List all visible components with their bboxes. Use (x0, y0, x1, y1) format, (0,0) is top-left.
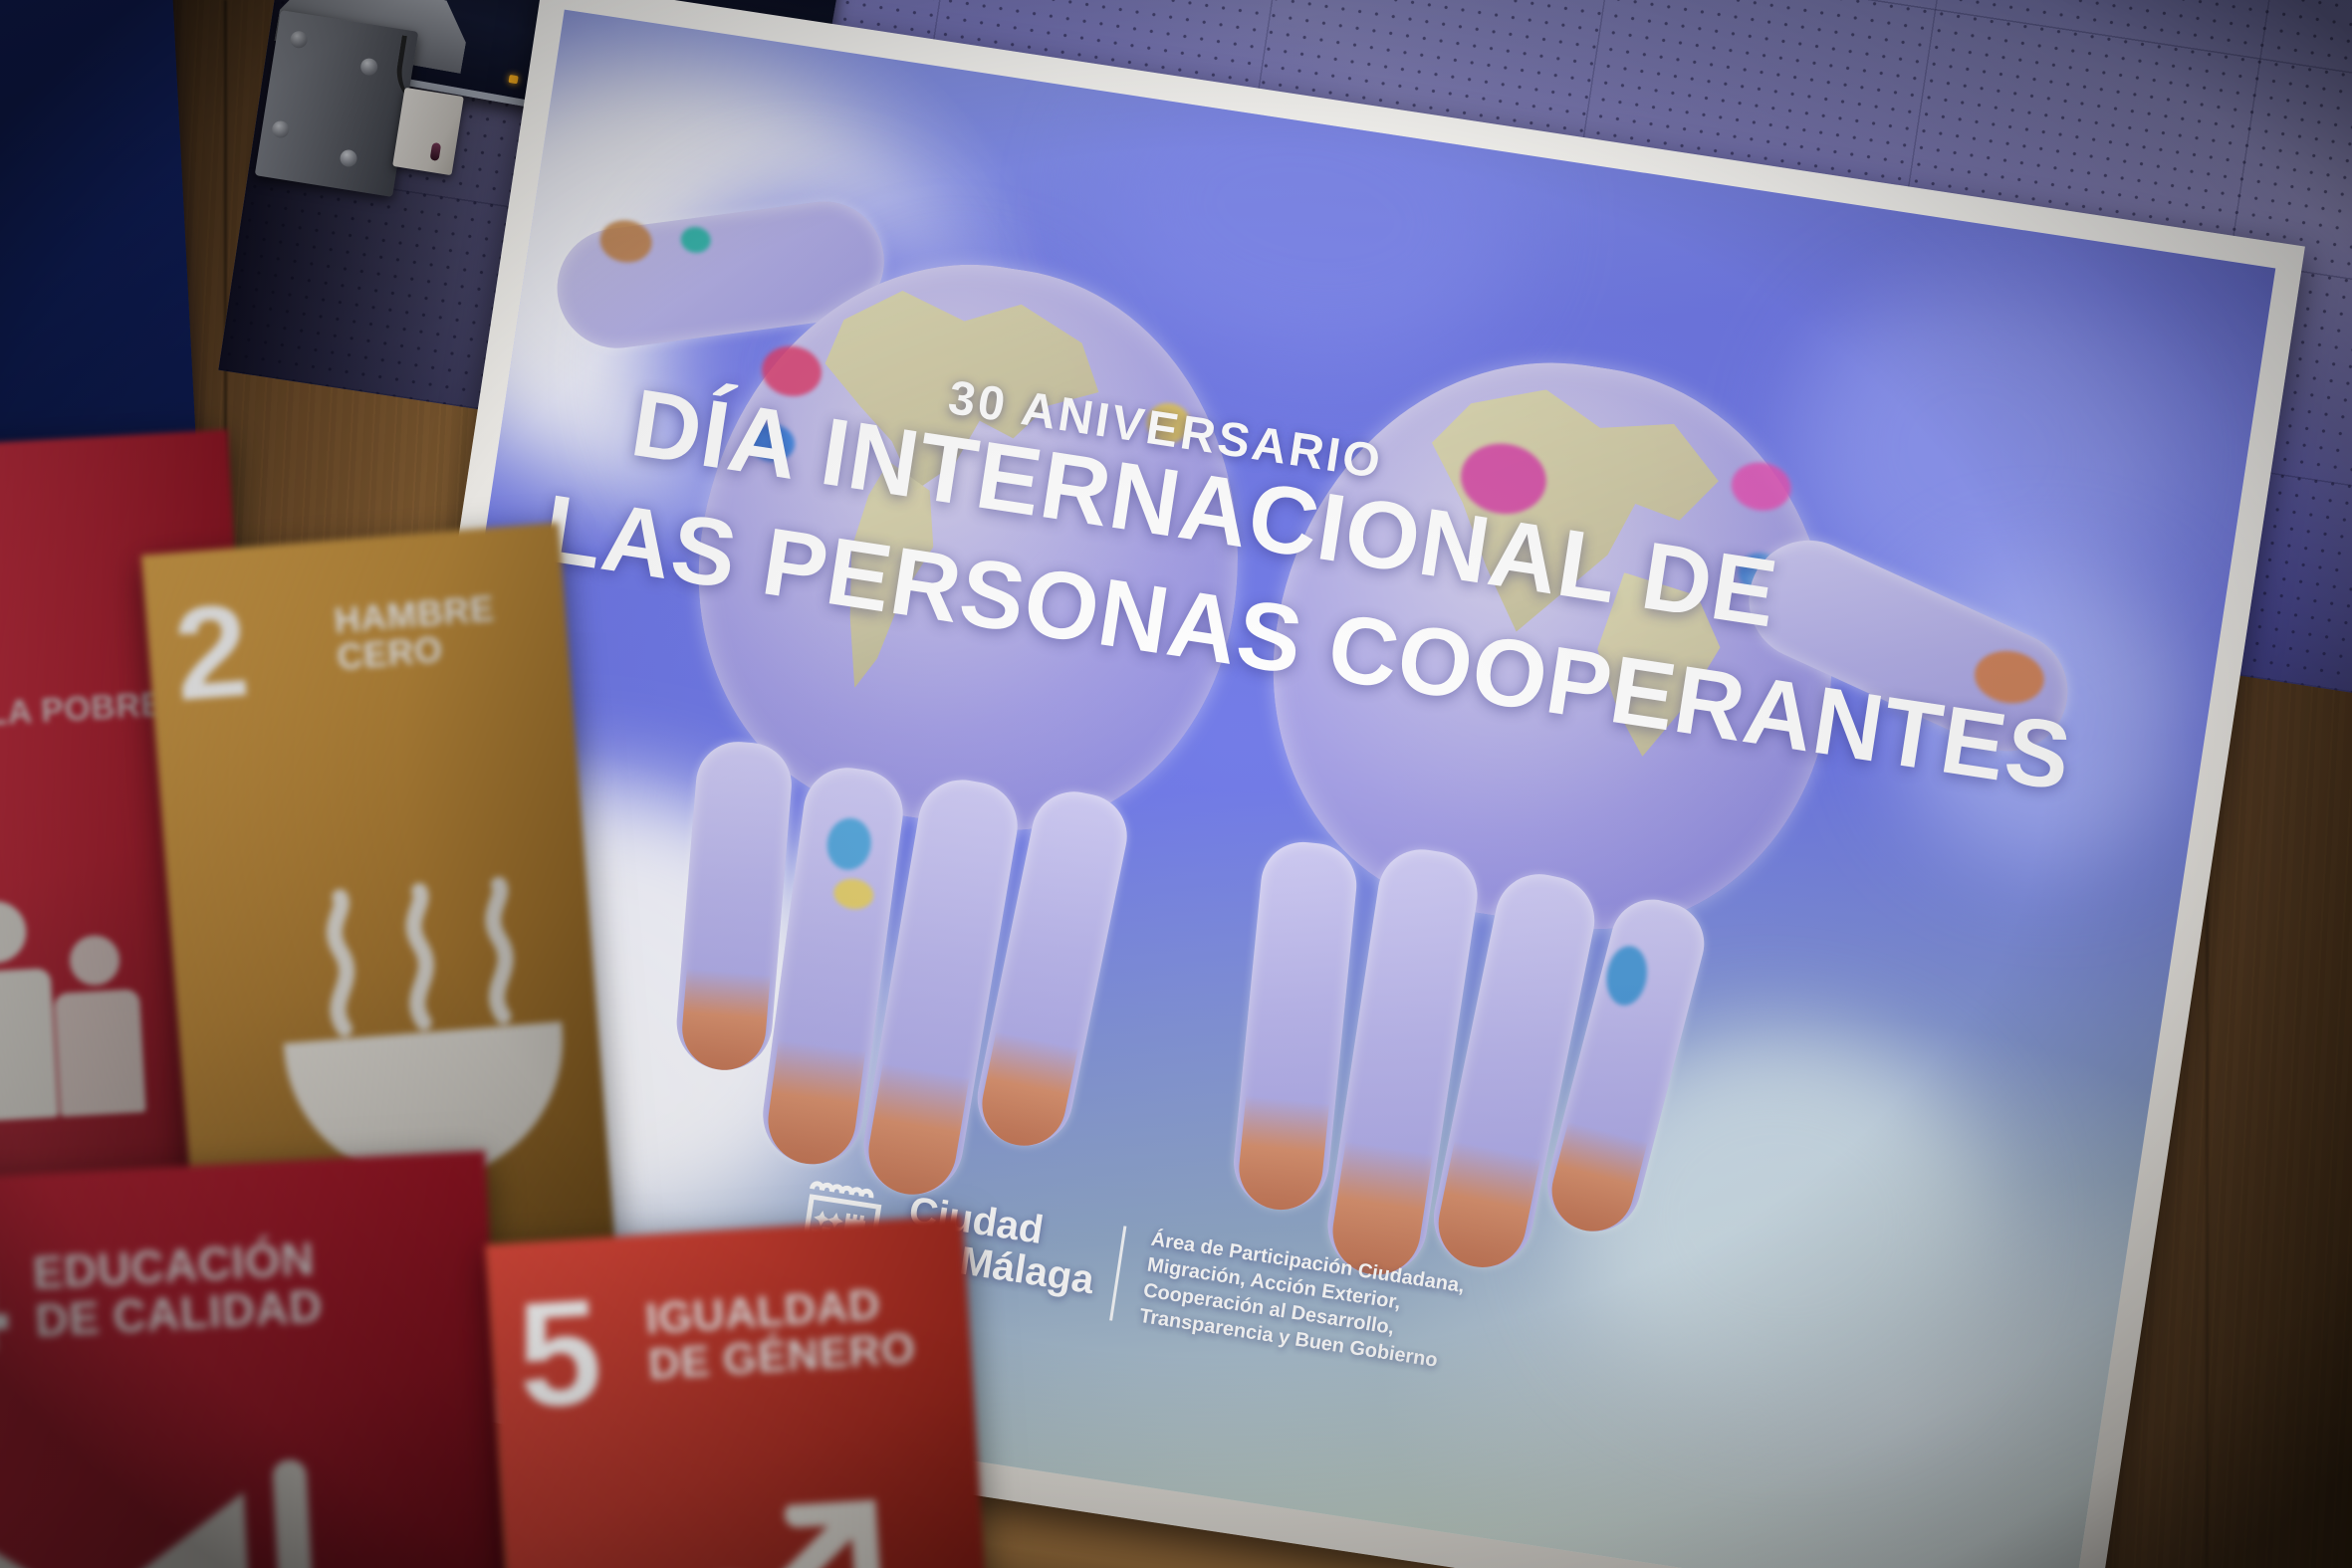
tv-wall-bracket (255, 10, 419, 197)
malaga-shield-icon (791, 1174, 891, 1289)
logo-divider (1109, 1226, 1126, 1320)
bracket-screw (271, 119, 290, 138)
projection-screen: 30 ANIVERSARIO DÍA INTERNACIONAL DE LAS … (329, 0, 2305, 1568)
photo-stage: 30 ANIVERSARIO DÍA INTERNACIONAL DE LAS … (0, 0, 2352, 1568)
bracket-screw (359, 57, 378, 76)
wall-seam (224, 0, 227, 1568)
malaga-logo-name: Ciudad de Málaga (900, 1190, 1103, 1302)
screen-frame: 30 ANIVERSARIO DÍA INTERNACIONAL DE LAS … (329, 0, 2305, 1568)
sensor-lens-icon (430, 142, 442, 161)
blue-wall-panel (0, 0, 196, 463)
bracket-screw (339, 148, 357, 167)
tv-led-indicator (508, 75, 518, 84)
department-text: Área de Participación Ciudadana, Migraci… (1138, 1227, 1467, 1376)
projected-slide: 30 ANIVERSARIO DÍA INTERNACIONAL DE LAS … (358, 10, 2275, 1568)
ir-sensor-box (392, 88, 464, 175)
slide-text-layer: 30 ANIVERSARIO DÍA INTERNACIONAL DE LAS … (358, 10, 2275, 1568)
bracket-screw (289, 30, 308, 49)
malaga-logo-block: Ciudad de Málaga Área de Participación C… (791, 1174, 1466, 1376)
